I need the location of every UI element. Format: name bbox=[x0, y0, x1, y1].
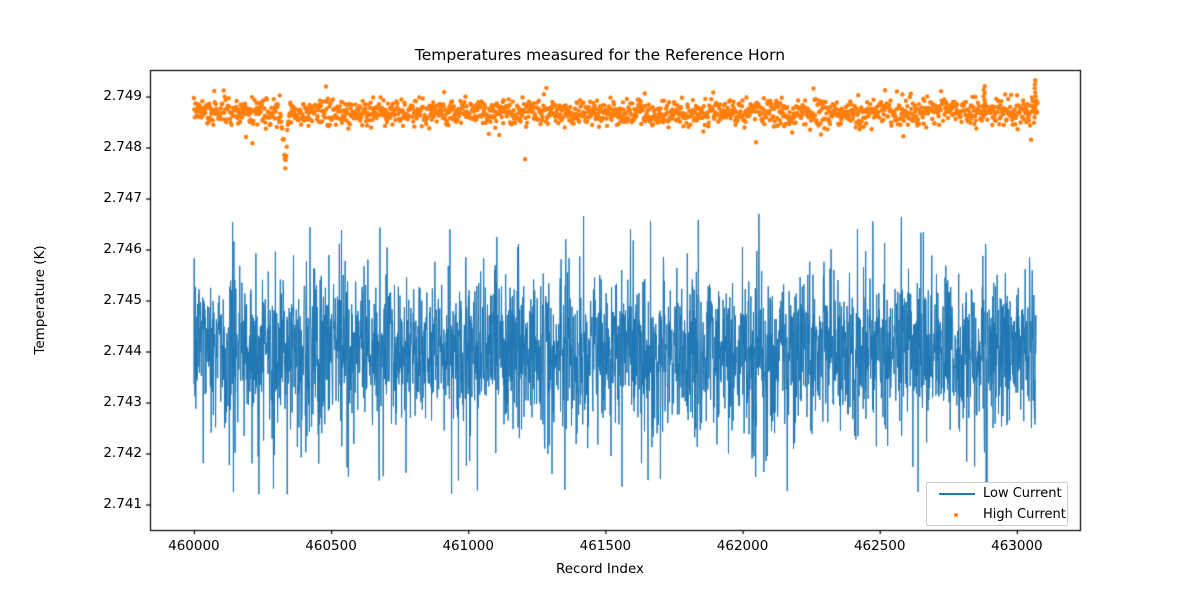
legend-label-high-current: High Current bbox=[983, 507, 1066, 522]
legend-line-swatch-icon bbox=[935, 483, 979, 505]
legend-entry-low-current[interactable]: Low Current bbox=[927, 483, 1069, 505]
matplotlib-figure: Temperatures measured for the Reference … bbox=[0, 0, 1200, 600]
chart-legend[interactable]: Low Current High Current bbox=[926, 482, 1068, 526]
legend-label-low-current: Low Current bbox=[983, 486, 1062, 501]
legend-dot-swatch-icon bbox=[935, 504, 979, 526]
legend-entry-high-current[interactable]: High Current bbox=[927, 504, 1069, 526]
